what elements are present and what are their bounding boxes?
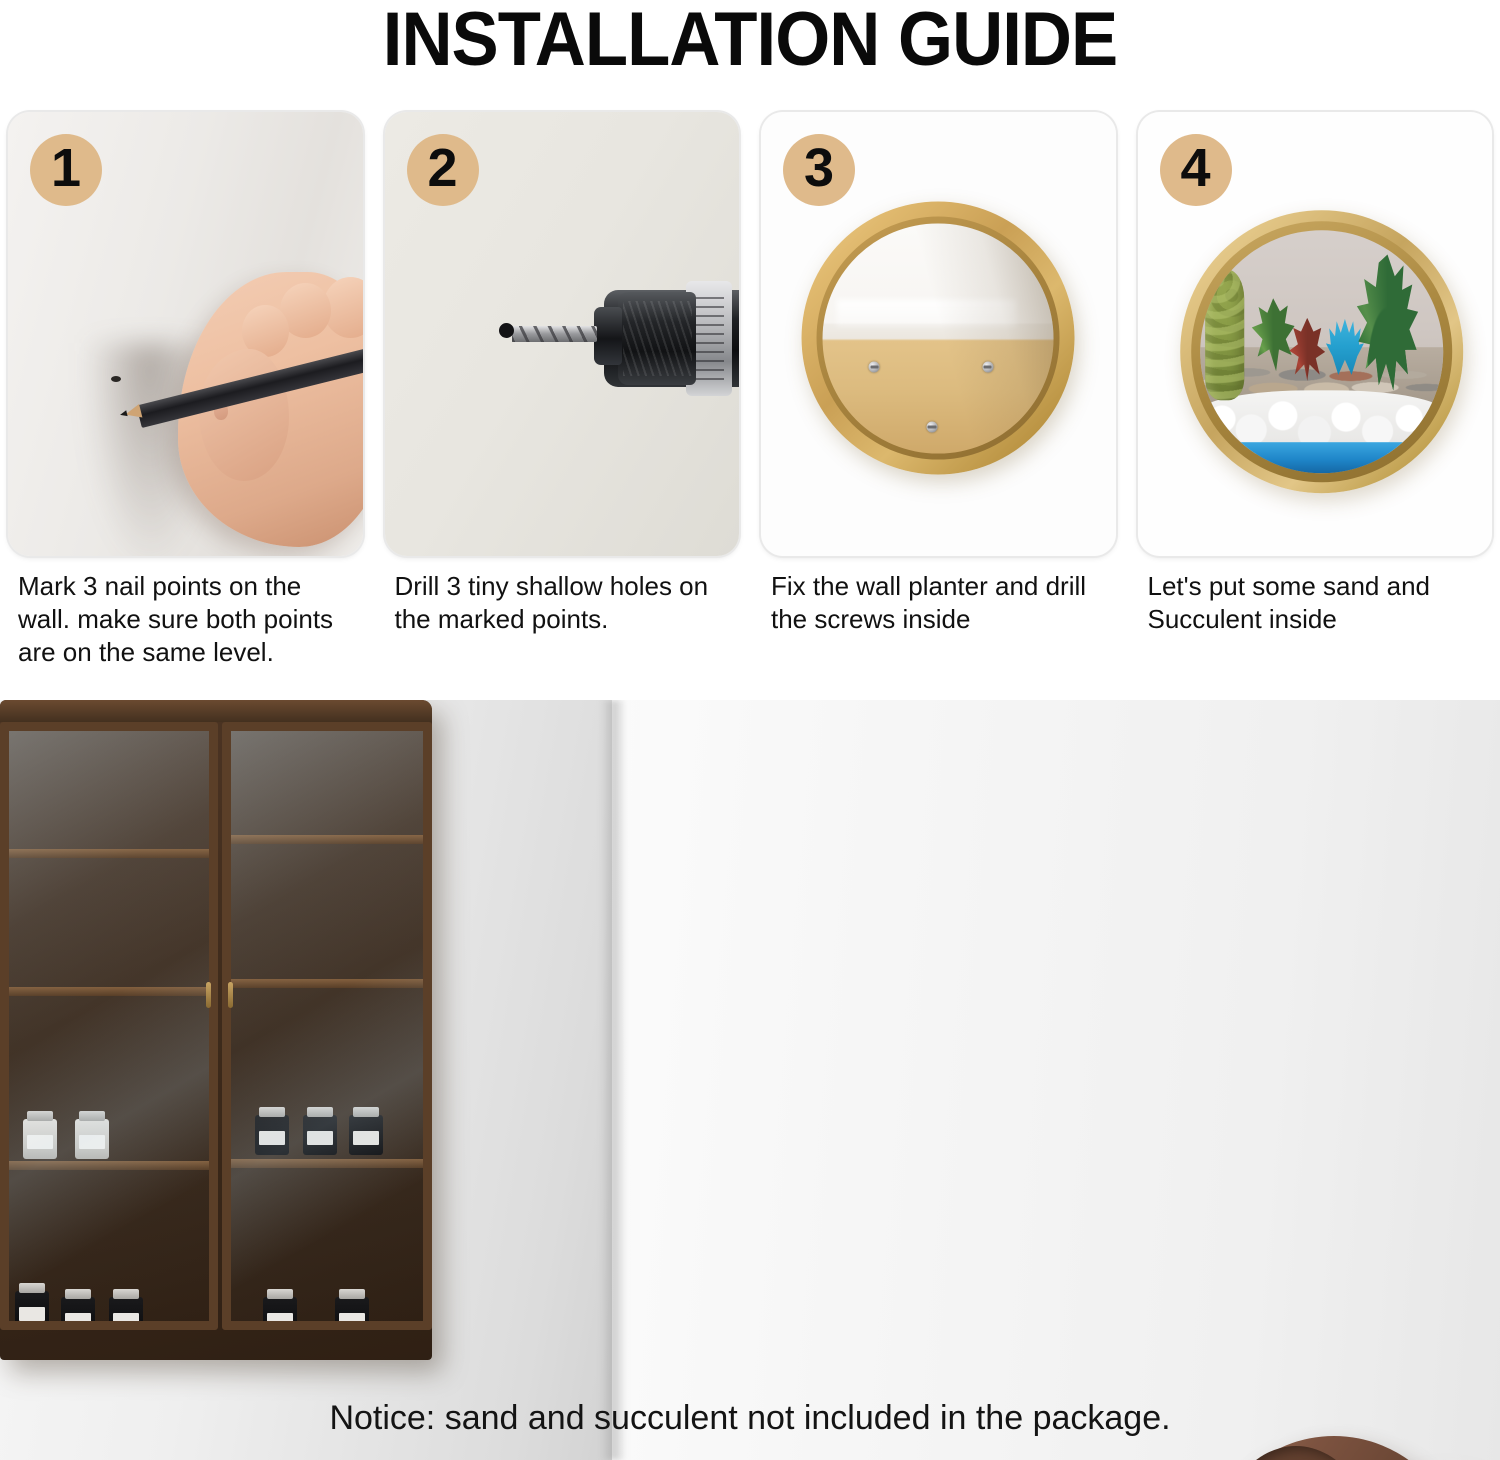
planter-ring: [1208, 1436, 1460, 1460]
step-card-1: 1: [8, 112, 363, 556]
wall-corner-edge: [600, 700, 626, 1460]
cabinet-handle[interactable]: [206, 982, 211, 1008]
cabinet-top-trim: [0, 700, 432, 722]
planter-interior: [1200, 230, 1443, 473]
step-caption-3: Fix the wall planter and drill the screw…: [761, 570, 1116, 669]
wall-planter-large: [1208, 1436, 1460, 1460]
package-notice: Notice: sand and succulent not included …: [0, 1399, 1500, 1438]
drill-chuck: [618, 292, 696, 385]
succulent-olive: [1205, 269, 1244, 400]
glass-reflection: [231, 731, 423, 1321]
step-badge-3: 3: [783, 134, 855, 206]
step-badge-1: 1: [30, 134, 102, 206]
planter-shading: [823, 223, 1054, 454]
installation-steps-row: 1 2: [8, 112, 1492, 556]
planter-inner-ring: [1191, 221, 1452, 482]
wall-right-face: [612, 700, 1500, 1460]
step-caption-4: Let's put some sand and Succulent inside: [1138, 570, 1493, 669]
screw-icon: [982, 362, 993, 373]
step-badge-4: 4: [1160, 134, 1232, 206]
step-caption-2: Drill 3 tiny shallow holes on the marked…: [385, 570, 740, 669]
cabinet-door-right: [222, 722, 432, 1330]
planter-back-plate: [823, 223, 1054, 454]
hero-lifestyle-photo: Notice: sand and succulent not included …: [0, 700, 1500, 1460]
thumb: [199, 349, 288, 481]
gold-planter: [802, 202, 1075, 475]
cabinet-handle[interactable]: [228, 982, 233, 1008]
step-card-3: 3: [761, 112, 1116, 556]
step-badge-2: 2: [407, 134, 479, 206]
screw-icon: [927, 422, 938, 433]
drill-nose: [594, 307, 622, 365]
page-title: INSTALLATION GUIDE: [53, 0, 1448, 96]
step-card-2: 2: [385, 112, 740, 556]
planter-inner-ring: [817, 217, 1060, 460]
gold-planter-planted: [1180, 210, 1464, 494]
step-caption-1: Mark 3 nail points on the wall. make sur…: [8, 570, 363, 669]
drill-hole-point: [499, 323, 514, 338]
wooden-display-cabinet: [0, 700, 432, 1360]
glass-reflection: [9, 731, 209, 1321]
step-card-4: 4: [1138, 112, 1493, 556]
step-captions-row: Mark 3 nail points on the wall. make sur…: [8, 570, 1492, 669]
blue-sand-layer: [1200, 442, 1443, 474]
screw-icon: [869, 362, 880, 373]
cabinet-door-left: [0, 722, 218, 1330]
drill-bit-icon: [512, 326, 597, 341]
